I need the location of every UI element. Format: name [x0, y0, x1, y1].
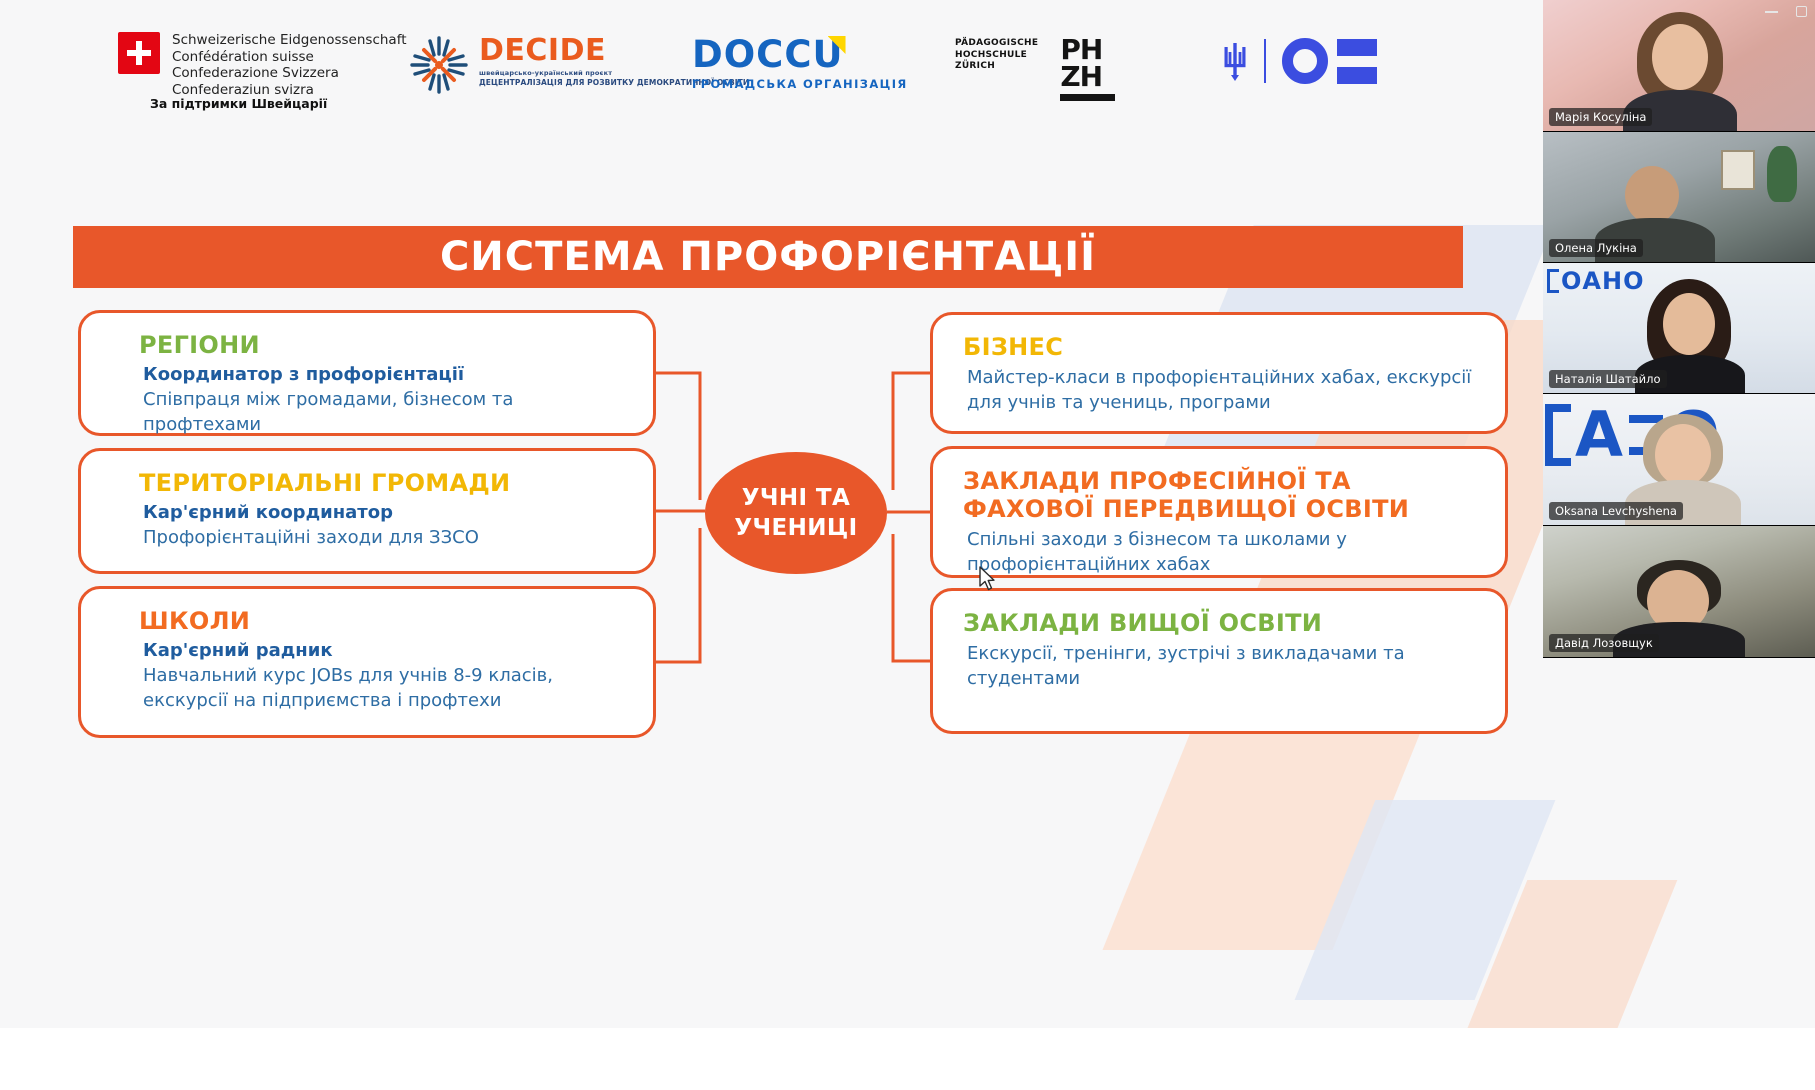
participant-tile[interactable]: Олена Лукіна [1543, 132, 1815, 263]
meeting-screen-share: Schweizerische Eidgenossenschaft Confédé… [0, 0, 1815, 1090]
node-description: Екскурсії, тренінги, зустрічі з викладач… [963, 641, 1481, 691]
participant-name: Олена Лукіна [1549, 239, 1643, 257]
node-heading: ШКОЛИ [139, 607, 629, 635]
participant-tile[interactable]: ОАНО Наталія Шатайло [1543, 263, 1815, 394]
participant-filmstrip: Марія Косуліна Олена Лукіна ОАНО [1543, 0, 1815, 658]
participant-name: Давід Лозовщук [1549, 634, 1659, 652]
diagram-node-schools[interactable]: ШКОЛИ Кар'єрний радник Навчальний курс J… [78, 586, 656, 738]
node-heading: РЕГІОНИ [139, 331, 629, 359]
participant-tile[interactable]: А О Oksana Levchyshena [1543, 394, 1815, 526]
node-description: Навчальний курс JOBs для учнів 8-9 класі… [139, 663, 629, 713]
diagram-node-regions[interactable]: РЕГІОНИ Координатор з профорієнтації Спі… [78, 310, 656, 436]
oaho-logo-icon: ОАНО [1547, 267, 1646, 295]
node-description: Співпраця між громадами, бізнесом та про… [139, 387, 629, 437]
hub-line-2: УЧЕНИЦІ [734, 513, 857, 543]
hub-line-1: УЧНІ ТА [742, 483, 850, 513]
picture-frame-decor [1721, 150, 1755, 190]
node-description: Профорієнтаційні заходи для ЗЗСО [139, 525, 629, 550]
participant-name: Oksana Levchyshena [1549, 502, 1683, 520]
participant-tile[interactable]: Давід Лозовщук [1543, 526, 1815, 658]
node-role: Координатор з профорієнтації [139, 363, 629, 387]
slide-bottom-margin [0, 1028, 1815, 1090]
diagram-node-territorial-communities[interactable]: ТЕРИТОРІАЛЬНІ ГРОМАДИ Кар'єрний координа… [78, 448, 656, 574]
node-heading: ЗАКЛАДИ ПРОФЕСІЙНОЇ ТА ФАХОВОЇ ПЕРЕДВИЩО… [963, 467, 1481, 523]
node-role: Кар'єрний координатор [139, 501, 629, 525]
participant-name: Наталія Шатайло [1549, 370, 1667, 388]
node-description: Спільні заходи з бізнесом та школами у п… [963, 527, 1481, 577]
plant-decor [1767, 146, 1797, 202]
window-controls [1765, 6, 1807, 17]
minimize-icon[interactable] [1765, 11, 1778, 13]
node-description: Майстер-класи в профорієнтаційних хабах,… [963, 365, 1481, 415]
diagram-node-vocational-education[interactable]: ЗАКЛАДИ ПРОФЕСІЙНОЇ ТА ФАХОВОЇ ПЕРЕДВИЩО… [930, 446, 1508, 578]
participant-name: Марія Косуліна [1549, 108, 1652, 126]
node-heading: ТЕРИТОРІАЛЬНІ ГРОМАДИ [139, 469, 629, 497]
diagram-node-higher-education[interactable]: ЗАКЛАДИ ВИЩОЇ ОСВІТИ Екскурсії, тренінги… [930, 588, 1508, 734]
participant-tile[interactable]: Марія Косуліна [1543, 0, 1815, 132]
node-heading: БІЗНЕС [963, 333, 1481, 361]
diagram-hub-students: УЧНІ ТА УЧЕНИЦІ [705, 452, 887, 574]
node-heading: ЗАКЛАДИ ВИЩОЇ ОСВІТИ [963, 609, 1481, 637]
diagram-node-business[interactable]: БІЗНЕС Майстер-класи в профорієнтаційних… [930, 312, 1508, 434]
restore-window-icon[interactable] [1796, 6, 1807, 17]
node-role: Кар'єрний радник [139, 639, 629, 663]
